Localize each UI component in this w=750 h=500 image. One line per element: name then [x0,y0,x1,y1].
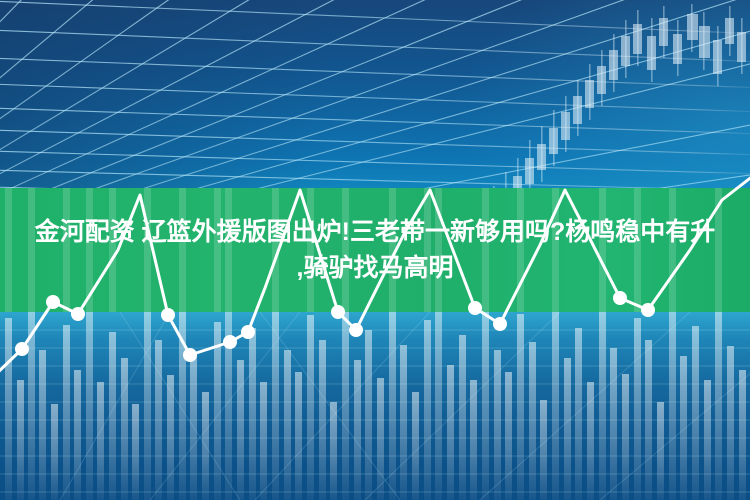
banner-canvas: 金河配资 辽篮外援版图出炉!三老带一新够用吗?杨鸣稳中有升 ,骑驴找马高明 [0,0,750,500]
headline-text-block: 金河配资 辽篮外援版图出炉!三老带一新够用吗?杨鸣稳中有升 ,骑驴找马高明 [0,188,750,312]
headline-line-1: 金河配资 辽篮外援版图出炉!三老带一新够用吗?杨鸣稳中有升 [35,214,716,250]
artboard: 金河配资 辽篮外援版图出炉!三老带一新够用吗?杨鸣稳中有升 ,骑驴找马高明 [0,0,750,500]
headline-line-2: ,骑驴找马高明 [297,250,454,286]
